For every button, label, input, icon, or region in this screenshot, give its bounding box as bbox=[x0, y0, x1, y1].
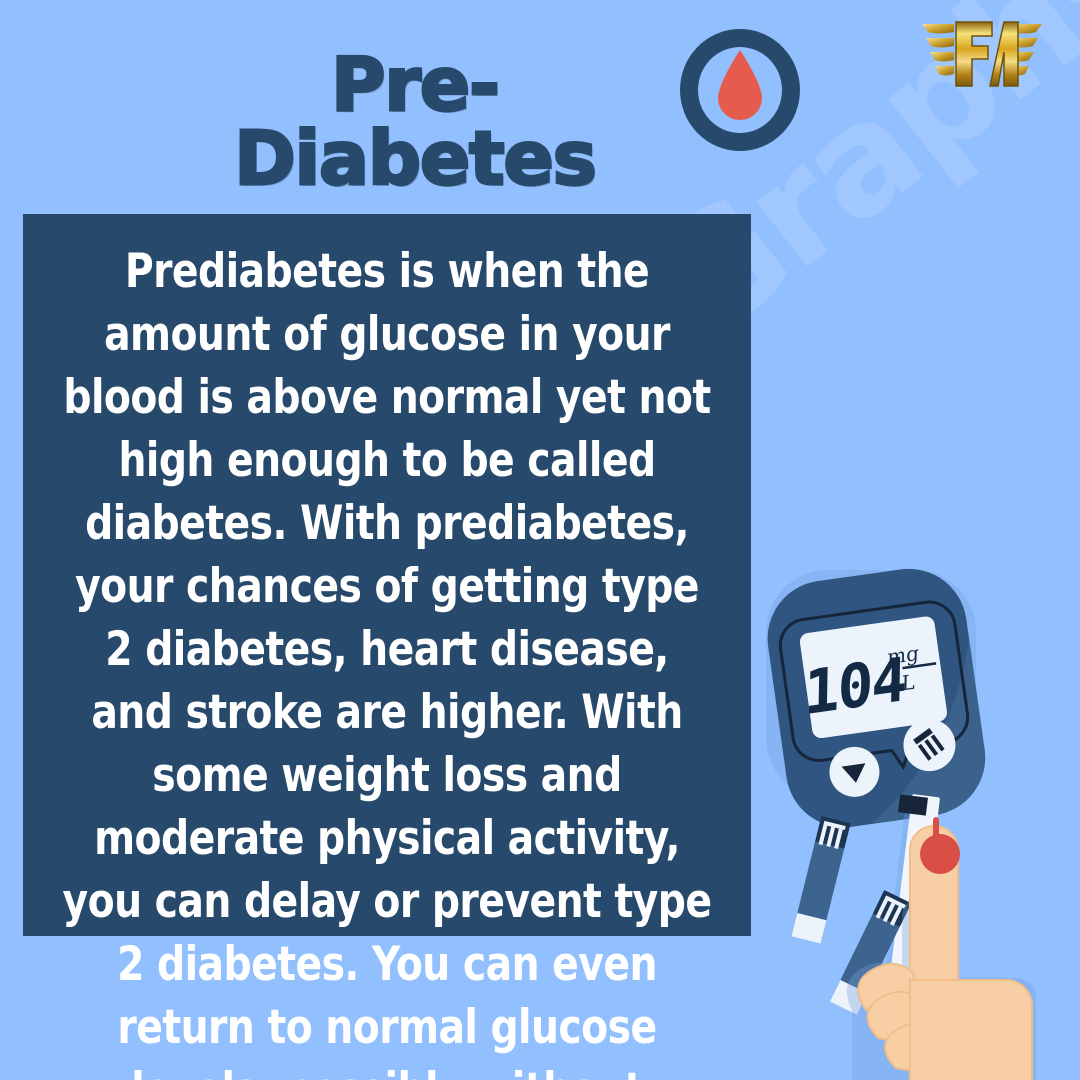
header: Pre-Diabetes bbox=[0, 0, 1080, 190]
infographic-canvas: FitnessGraphs Pre-Diabetes bbox=[0, 0, 1080, 1080]
glucometer-unit-numerator: mg bbox=[887, 641, 919, 670]
blood-drop-icon bbox=[678, 28, 802, 152]
page-title: Pre-Diabetes bbox=[175, 48, 655, 196]
glucometer-illustration: 104 mg dL bbox=[760, 560, 1080, 1080]
description-panel: Prediabetes is when the amount of glucos… bbox=[23, 214, 751, 936]
description-text: Prediabetes is when the amount of glucos… bbox=[61, 240, 712, 1080]
test-strip bbox=[791, 816, 850, 944]
fm-winged-logo bbox=[918, 12, 1046, 96]
glucometer-unit-denominator: dL bbox=[889, 670, 915, 698]
